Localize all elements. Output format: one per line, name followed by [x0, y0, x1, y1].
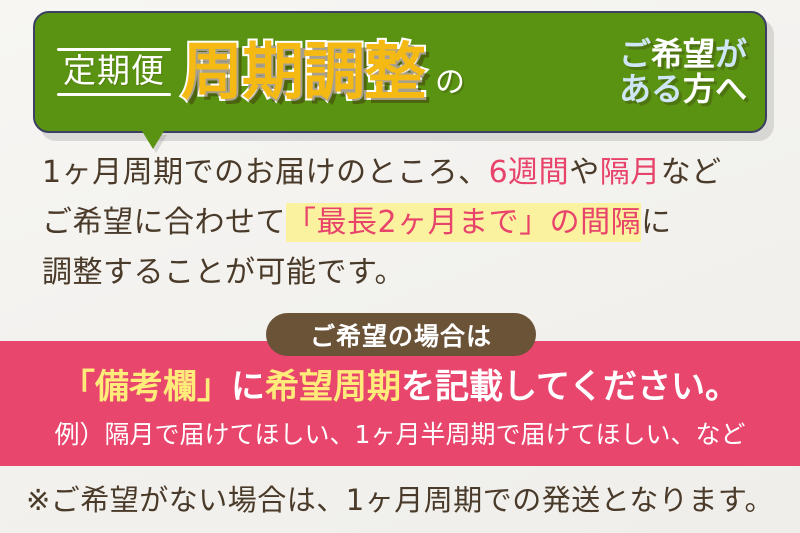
header-subtitle-line-2-main: 方	[683, 70, 715, 108]
header-speech-bubble: 定期便 周期調整 の ご希望が ある方へ	[33, 11, 767, 133]
body-line-2-highlight: 「最長2ヶ月まで」の間隔	[286, 203, 641, 242]
body-line-2-part-b: に	[641, 205, 672, 240]
header-subtitle-line-1-main: 希望	[651, 35, 715, 73]
speech-bubble-tail-icon	[142, 131, 164, 149]
instruction-band: 「備考欄」に希望周期を記載してください。 例）隔月で届けてほしい、1ヶ月半周期で…	[0, 341, 800, 466]
instruction-headline: 「備考欄」に希望周期を記載してください。	[0, 359, 800, 408]
subscription-badge-label: 定期便	[63, 51, 165, 90]
body-line-1-part-b: や	[569, 155, 600, 190]
body-copy-line-1: 1ヶ月周期でのお届けのところ、6週間や隔月など	[42, 148, 772, 198]
body-line-1-part-c: など	[661, 155, 722, 190]
header-subtitle-line-2-prefix: ある	[619, 70, 683, 108]
body-line-2-part-a: ご希望に合わせて	[42, 205, 286, 240]
badge-rule-top	[57, 48, 171, 51]
badge-rule-bottom	[57, 93, 171, 96]
header-title-particle: の	[435, 57, 465, 101]
promo-banner: 定期便 周期調整 の ご希望が ある方へ 1ヶ月周期でのお届けのところ、6週間や…	[0, 0, 800, 533]
body-line-1-pink-2: 隔月	[600, 155, 661, 190]
header-subtitle-line-1: ご希望が	[619, 37, 747, 72]
body-copy-line-3: 調整することが可能です。	[42, 248, 772, 298]
header-subtitle-line-1-prefix: ご	[619, 35, 651, 73]
instruction-yellow-2: 希望周期	[265, 367, 401, 407]
header-subtitle-line-2: ある方へ	[619, 72, 747, 107]
instruction-white-2: を記載してください。	[401, 367, 739, 407]
footer-note: ※ご希望がない場合は、1ヶ月周期での発送となります。	[0, 477, 800, 519]
body-copy: 1ヶ月周期でのお届けのところ、6週間や隔月など ご希望に合わせて「最長2ヶ月まで…	[42, 148, 772, 298]
instruction-example: 例）隔月で届けてほしい、1ヶ月半周期で届けてほしい、など	[0, 415, 800, 451]
header-subtitle: ご希望が ある方へ	[619, 37, 747, 106]
condition-badge: ご希望の場合は	[266, 313, 536, 356]
subscription-badge: 定期便	[59, 48, 169, 97]
header-content: 定期便 周期調整 の ご希望が ある方へ	[35, 13, 765, 131]
header-title: 周期調整	[181, 41, 425, 103]
header-subtitle-line-1-suffix: が	[715, 35, 747, 73]
condition-badge-label: ご希望の場合は	[310, 317, 492, 353]
body-copy-line-2: ご希望に合わせて「最長2ヶ月まで」の間隔に	[42, 198, 772, 248]
body-line-1-pink-1: 6週間	[489, 155, 570, 190]
instruction-yellow-1: 「備考欄」	[61, 367, 231, 407]
body-line-1-part-a: 1ヶ月周期でのお届けのところ、	[42, 155, 489, 190]
instruction-white-1: に	[231, 367, 265, 407]
header-subtitle-line-2-suffix: へ	[715, 70, 747, 108]
